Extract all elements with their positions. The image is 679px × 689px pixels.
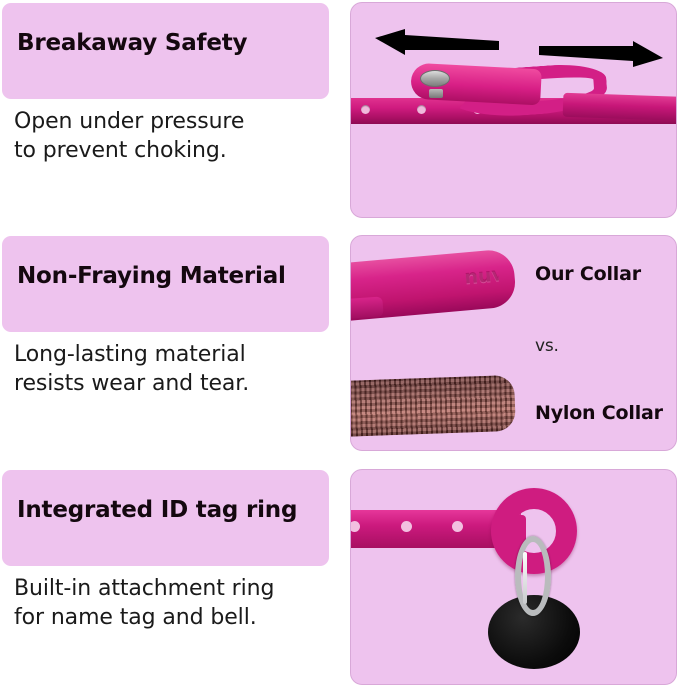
feature-description-line: for name tag and bell. [14, 603, 329, 632]
feature-title-pill-2: Non-Fraying Material [2, 236, 329, 332]
feature-image-panel-3 [350, 469, 677, 685]
feature-row-integrated-id-tag-ring: Integrated ID tag ring Built-in attachme… [0, 467, 679, 687]
strap-hole [417, 105, 426, 114]
feature-description-line: Open under pressure [14, 107, 329, 136]
label-versus: vs. [535, 336, 559, 356]
feature-text-column-2: Non-Fraying Material Long-lasting materi… [2, 235, 329, 451]
collar-strap-right [563, 93, 677, 122]
feature-description-3: Built-in attachment ring for name tag an… [14, 574, 329, 633]
feature-image-panel-2: nuvu Our Collar vs. Nylon Collar [350, 235, 677, 451]
feature-title-1: Breakaway Safety [17, 30, 321, 56]
feature-text-column-3: Integrated ID tag ring Built-in attachme… [2, 469, 329, 685]
strap-hole [401, 521, 412, 532]
metal-snap-icon [420, 70, 450, 87]
feature-title-pill-1: Breakaway Safety [2, 3, 329, 99]
feature-row-non-fraying-material: Non-Fraying Material Long-lasting materi… [0, 233, 679, 453]
arrow-right-icon [539, 41, 663, 67]
feature-description-line: Long-lasting material [14, 340, 329, 369]
collar-clip [350, 296, 384, 319]
feature-description-1: Open under pressure to prevent choking. [14, 107, 329, 166]
split-ring-icon [515, 536, 551, 616]
feature-description-line: resists wear and tear. [14, 369, 329, 398]
label-nylon-collar: Nylon Collar [535, 402, 663, 424]
arrow-left-icon [375, 29, 499, 55]
nylon-collar-sample [350, 375, 516, 437]
feature-description-line: Built-in attachment ring [14, 574, 329, 603]
feature-comparison-sheet: Breakaway Safety Open under pressure to … [0, 0, 679, 689]
feature-image-panel-1 [350, 2, 677, 218]
feature-description-2: Long-lasting material resists wear and t… [14, 340, 329, 399]
feature-title-pill-3: Integrated ID tag ring [2, 470, 329, 566]
strap-hole [361, 105, 370, 114]
collar-emboss-logo: nuvu [464, 264, 500, 289]
snap-post-icon [429, 89, 443, 98]
feature-title-3: Integrated ID tag ring [17, 497, 321, 523]
strap-hole [452, 521, 463, 532]
feature-title-2: Non-Fraying Material [17, 263, 321, 289]
feature-row-breakaway-safety: Breakaway Safety Open under pressure to … [0, 0, 679, 220]
feature-description-line: to prevent choking. [14, 136, 329, 165]
label-our-collar: Our Collar [535, 263, 641, 285]
feature-text-column-1: Breakaway Safety Open under pressure to … [2, 2, 329, 218]
